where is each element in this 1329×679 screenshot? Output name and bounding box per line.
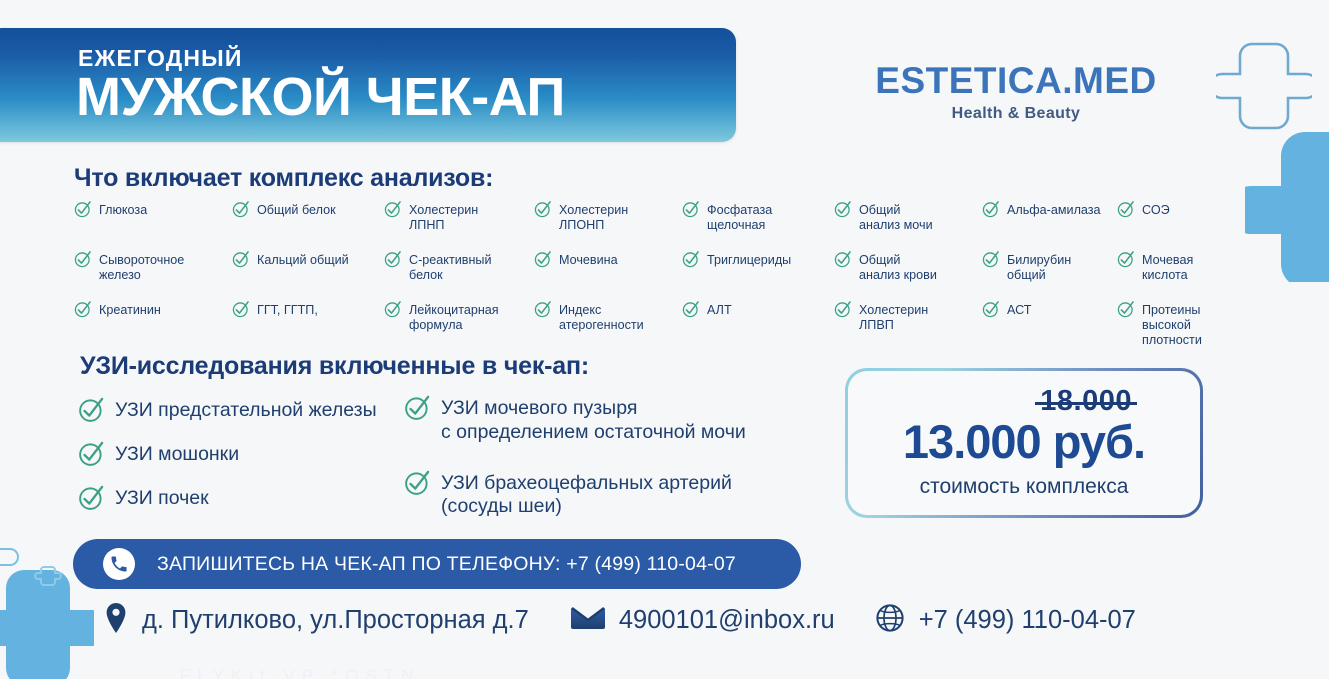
check-circle-icon (232, 250, 250, 273)
check-circle-icon (1117, 300, 1135, 323)
analysis-item: Глюкоза (74, 200, 232, 223)
globe-icon (875, 603, 905, 638)
analysis-label: Фосфатаза щелочная (707, 200, 772, 233)
check-circle-icon (982, 200, 1000, 223)
uzi-item: УЗИ брахеоцефальных артерий (сосуды шеи) (404, 469, 824, 520)
address-text: д. Путилково, ул.Просторная д.7 (142, 606, 529, 635)
analyses-grid: ГлюкозаОбщий белокХолестерин ЛПНПХолесте… (74, 200, 1319, 350)
analysis-item: Фосфатаза щелочная (682, 200, 834, 233)
location-pin-icon (104, 602, 128, 639)
check-circle-icon (384, 250, 402, 273)
brand-logo: ESTETICA.MED Health & Beauty (846, 62, 1186, 123)
analysis-item: Холестерин ЛПВП (834, 300, 982, 333)
analysis-label: Индекс атерогенности (559, 300, 644, 333)
check-circle-icon (404, 469, 431, 501)
analysis-label: СОЭ (1142, 200, 1170, 218)
banner-title: МУЖСКОЙ ЧЕК-АП (76, 69, 565, 126)
check-circle-icon (78, 396, 105, 428)
footer-address[interactable]: д. Путилково, ул.Просторная д.7 (104, 602, 529, 639)
check-circle-icon (982, 250, 1000, 273)
footer-phone[interactable]: +7 (499) 110-04-07 (875, 603, 1136, 638)
analysis-item: Общий анализ мочи (834, 200, 982, 233)
header-banner: ЕЖЕГОДНЫЙ МУЖСКОЙ ЧЕК-АП (0, 28, 736, 142)
analysis-label: Протеины высокой плотности (1142, 300, 1219, 348)
analysis-label: С-реактивный белок (409, 250, 492, 283)
envelope-icon (571, 605, 605, 636)
check-circle-icon (74, 250, 92, 273)
footer-email[interactable]: 4900101@inbox.ru (571, 605, 835, 636)
analysis-item: Триглицериды (682, 250, 834, 273)
analysis-label: Альфа-амилаза (1007, 200, 1101, 218)
analyses-heading: Что включает комплекс анализов: (74, 164, 493, 193)
check-circle-icon (682, 250, 700, 273)
uzi-label: УЗИ почек (115, 484, 209, 511)
current-price: 13.000 руб. (848, 414, 1200, 469)
logo-name: ESTETICA.MED (846, 62, 1186, 99)
price-note: стоимость комплекса (848, 475, 1200, 499)
email-text: 4900101@inbox.ru (619, 606, 835, 635)
uzi-label: УЗИ мошонки (115, 440, 239, 467)
analysis-label: ГГТ, ГГТП, (257, 300, 318, 318)
analysis-item: АЛТ (682, 300, 834, 323)
uzi-item: УЗИ почек (78, 484, 408, 516)
analysis-item: С-реактивный белок (384, 250, 534, 283)
check-circle-icon (834, 250, 852, 273)
check-circle-icon (384, 200, 402, 223)
analysis-item: Мочевая кислота (1117, 250, 1219, 283)
check-circle-icon (78, 484, 105, 516)
check-circle-icon (74, 200, 92, 223)
check-circle-icon (534, 250, 552, 273)
analysis-label: Лейкоцитарная формула (409, 300, 499, 333)
check-circle-icon (682, 300, 700, 323)
check-circle-icon (534, 300, 552, 323)
footer-contacts: д. Путилково, ул.Просторная д.7 4900101@ (104, 602, 1136, 639)
uzi-label: УЗИ предстательной железы (115, 396, 377, 423)
uzi-heading: УЗИ-исследования включенные в чек-ап: (80, 352, 589, 381)
uzi-item: УЗИ предстательной железы (78, 396, 408, 428)
check-circle-icon (78, 440, 105, 472)
plus-outline-icon-bottom-left-tiny (33, 565, 63, 600)
analysis-item: АСТ (982, 300, 1117, 323)
check-circle-icon (232, 200, 250, 223)
uzi-list-left: УЗИ предстательной железыУЗИ мошонкиУЗИ … (78, 396, 408, 528)
check-circle-icon (232, 300, 250, 323)
analysis-label: Глюкоза (99, 200, 147, 218)
analysis-item: Кальций общий (232, 250, 384, 273)
analysis-label: Триглицериды (707, 250, 791, 268)
analysis-item: Мочевина (534, 250, 682, 273)
analysis-item: ГГТ, ГГТП, (232, 300, 384, 323)
analysis-label: Холестерин ЛПВП (859, 300, 928, 333)
cta-text: ЗАПИШИТЕСЬ НА ЧЕК-АП ПО ТЕЛЕФОНУ: +7 (49… (157, 553, 736, 576)
uzi-item: УЗИ мошонки (78, 440, 408, 472)
check-circle-icon (404, 394, 431, 426)
uzi-label: УЗИ мочевого пузыря с определением остат… (441, 394, 746, 445)
price-box: 18.000 13.000 руб. стоимость комплекса (845, 368, 1203, 518)
check-circle-icon (534, 200, 552, 223)
phone-cta-button[interactable]: ЗАПИШИТЕСЬ НА ЧЕК-АП ПО ТЕЛЕФОНУ: +7 (49… (73, 539, 801, 589)
analysis-item: Холестерин ЛПНП (384, 200, 534, 233)
background-ghost-text: FLYKit VP *OSTN (180, 666, 420, 679)
analysis-item: Билирубин общий (982, 250, 1117, 283)
analysis-label: Мочевая кислота (1142, 250, 1193, 283)
analysis-label: Кальций общий (257, 250, 349, 268)
phone-icon (103, 548, 135, 580)
analysis-item: Лейкоцитарная формула (384, 300, 534, 333)
analysis-label: Общий белок (257, 200, 336, 218)
check-circle-icon (834, 300, 852, 323)
uzi-label: УЗИ брахеоцефальных артерий (сосуды шеи) (441, 469, 732, 520)
analysis-label: Общий анализ крови (859, 250, 937, 283)
analysis-label: Холестерин ЛПОНП (559, 200, 628, 233)
analysis-item: Альфа-амилаза (982, 200, 1117, 223)
analysis-item: СОЭ (1117, 200, 1219, 223)
phone-text: +7 (499) 110-04-07 (919, 606, 1136, 635)
analysis-label: АСТ (1007, 300, 1032, 318)
check-circle-icon (74, 300, 92, 323)
analysis-item: Протеины высокой плотности (1117, 300, 1219, 348)
poster-root: ЕЖЕГОДНЫЙ МУЖСКОЙ ЧЕК-АП ESTETICA.MED He… (0, 0, 1329, 679)
analysis-item: Креатинин (74, 300, 232, 323)
uzi-item: УЗИ мочевого пузыря с определением остат… (404, 394, 824, 445)
analysis-item: Сывороточное железо (74, 250, 232, 283)
analysis-label: Холестерин ЛПНП (409, 200, 478, 233)
uzi-list-right: УЗИ мочевого пузыря с определением остат… (404, 394, 824, 543)
analysis-item: Холестерин ЛПОНП (534, 200, 682, 233)
check-circle-icon (384, 300, 402, 323)
logo-tagline: Health & Beauty (846, 105, 1186, 123)
analysis-item: Общий белок (232, 200, 384, 223)
check-circle-icon (1117, 200, 1135, 223)
analysis-label: АЛТ (707, 300, 732, 318)
analysis-item: Индекс атерогенности (534, 300, 682, 333)
check-circle-icon (1117, 250, 1135, 273)
plus-outline-icon-top-right (1216, 38, 1312, 139)
price-inner: 18.000 13.000 руб. стоимость комплекса (848, 371, 1200, 515)
analysis-label: Креатинин (99, 300, 161, 318)
check-circle-icon (834, 200, 852, 223)
analysis-label: Билирубин общий (1007, 250, 1071, 283)
analysis-label: Сывороточное железо (99, 250, 184, 283)
check-circle-icon (982, 300, 1000, 323)
analysis-label: Мочевина (559, 250, 618, 268)
analysis-item: Общий анализ крови (834, 250, 982, 283)
check-circle-icon (682, 200, 700, 223)
analysis-label: Общий анализ мочи (859, 200, 933, 233)
